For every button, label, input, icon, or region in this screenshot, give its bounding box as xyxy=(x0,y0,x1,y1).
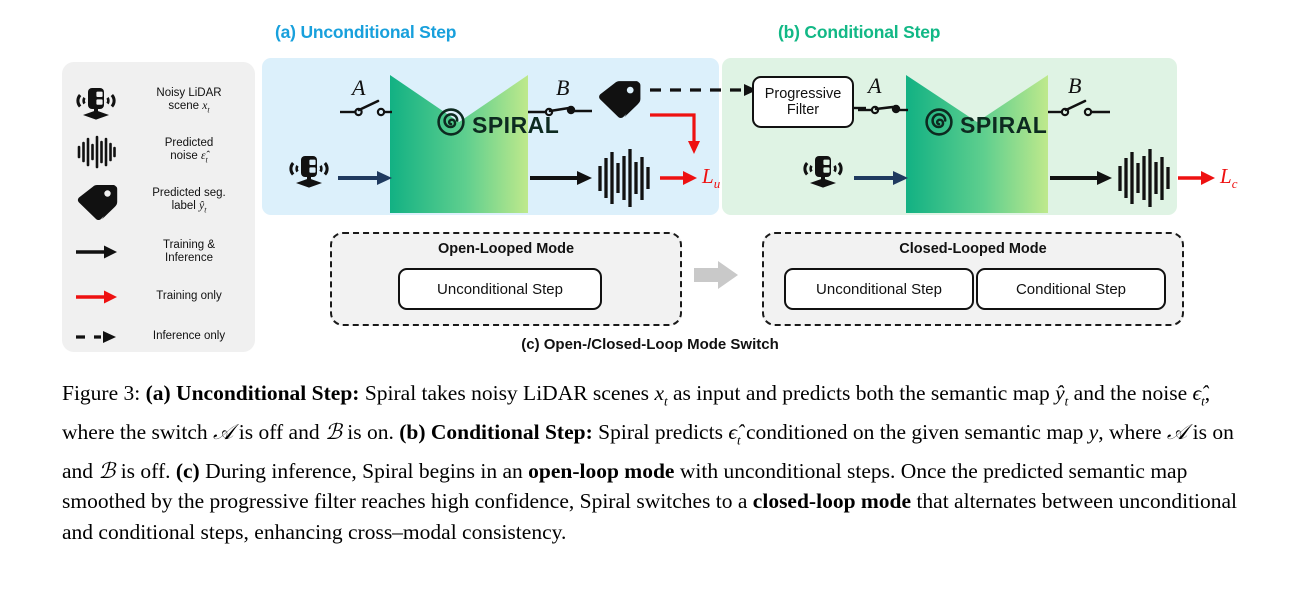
figure-caption-body: (a) Unconditional Step: Spiral takes noi… xyxy=(62,381,1237,544)
open-loop-unconditional-step-chip[interactable]: Unconditional Step xyxy=(398,268,602,310)
lidar-scanner-icon xyxy=(62,82,130,122)
progressive-filter-box[interactable]: Progressive Filter xyxy=(752,76,854,128)
legend-label-3: Training & Inference xyxy=(130,239,248,266)
open-loop-mode-title: Open-Looped Mode xyxy=(332,241,680,257)
legend-item-4: Training only xyxy=(62,280,255,314)
legend-item-2: Predicted seg. label ŷt xyxy=(62,180,255,224)
progressive-filter-line2: Filter xyxy=(787,102,819,118)
spiral-logo-icon xyxy=(925,108,953,142)
progressive-filter-line1: Progressive xyxy=(765,86,842,102)
legend-panel: Noisy LiDAR scene xt xyxy=(62,62,255,352)
panel-b-loss-arrow xyxy=(1178,171,1215,185)
spiral-logo-icon xyxy=(437,108,465,142)
mode-transition-arrow xyxy=(694,261,738,289)
figure-label: Figure 3: xyxy=(62,381,140,405)
figure-caption: Figure 3: (a) Unconditional Step: Spiral… xyxy=(62,378,1242,547)
red-arrow-icon xyxy=(62,286,130,308)
black-arrow-icon xyxy=(62,241,130,263)
panel-b-title: (b) Conditional Step xyxy=(778,22,940,43)
panel-a-loss-label: Lu xyxy=(702,164,720,192)
legend-item-1: Predicted noise ε̂t xyxy=(62,130,255,174)
closed-loop-unconditional-step-chip[interactable]: Unconditional Step xyxy=(784,268,974,310)
panel-a-switch-a-label: A xyxy=(352,75,365,101)
panel-b-model-label: SPIRAL xyxy=(925,108,1047,142)
panel-b-switch-b-label: B xyxy=(1068,73,1081,99)
seg-label-tag-icon xyxy=(62,182,130,222)
closed-loop-conditional-step-chip[interactable]: Conditional Step xyxy=(976,268,1166,310)
legend-label-2: Predicted seg. label ŷt xyxy=(130,187,248,217)
legend-label-1: Predicted noise ε̂t xyxy=(130,137,248,167)
closed-loop-mode-title: Closed-Looped Mode xyxy=(764,241,1182,257)
panel-c-caption: (c) Open-/Closed-Loop Mode Switch xyxy=(0,336,1300,353)
legend-label-0: Noisy LiDAR scene xt xyxy=(130,87,248,117)
panel-a-model-text: SPIRAL xyxy=(472,112,559,139)
panel-a-switch-b-label: B xyxy=(556,75,569,101)
panel-b-model-text: SPIRAL xyxy=(960,112,1047,139)
legend-item-0: Noisy LiDAR scene xt xyxy=(62,80,255,124)
closed-loop-mode-box: Closed-Looped Mode Unconditional Step Co… xyxy=(762,232,1184,326)
panel-a-title: (a) Unconditional Step xyxy=(275,22,456,43)
open-loop-mode-box: Open-Looped Mode Unconditional Step xyxy=(330,232,682,326)
legend-label-4: Training only xyxy=(130,290,248,304)
panel-a-model-label: SPIRAL xyxy=(437,108,559,142)
figure-root: Noisy LiDAR scene xt xyxy=(0,0,1300,609)
panel-b-loss-label: Lc xyxy=(1220,164,1237,192)
noise-waveform-icon xyxy=(62,134,130,170)
panel-b-switch-a-label: A xyxy=(868,73,881,99)
legend-item-3: Training & Inference xyxy=(62,232,255,272)
